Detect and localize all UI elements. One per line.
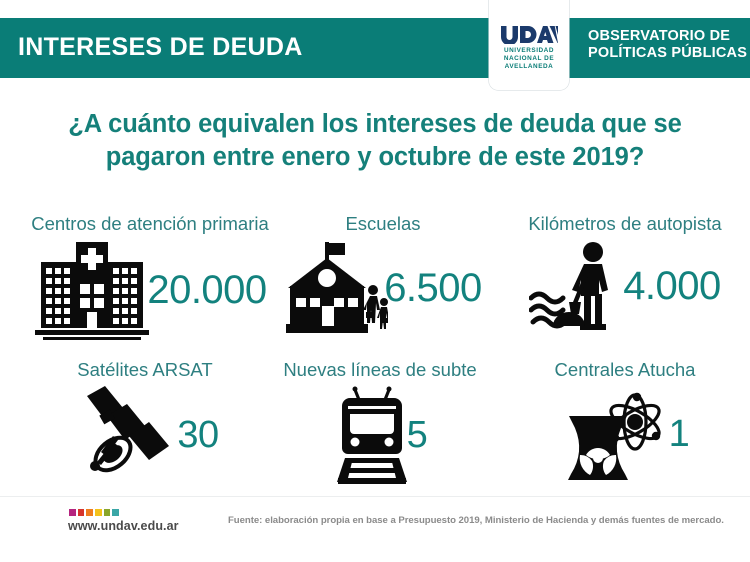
- satellite-icon: [71, 386, 181, 484]
- stat-body: 5: [255, 386, 505, 484]
- undav-logo-subtitle: UNIVERSIDAD NACIONAL DE AVELLANEDA: [504, 47, 554, 72]
- footer-website-url[interactable]: www.undav.edu.ar: [68, 519, 179, 533]
- school-icon: [284, 240, 388, 336]
- undav-logo-icon: [500, 25, 558, 44]
- observatory-line-1: OBSERVATORIO DE: [588, 28, 748, 45]
- stat-body: 20.000: [0, 240, 300, 340]
- stat-value: 4.000: [623, 266, 721, 306]
- headline: ¿A cuánto equivalen los intereses de deu…: [0, 108, 750, 174]
- swatch-3: [86, 509, 93, 516]
- footer-source-note: Fuente: elaboración propia en base a Pre…: [228, 515, 724, 526]
- footer-brand: www.undav.edu.ar: [68, 509, 179, 533]
- stat-body: 4.000: [500, 240, 750, 332]
- roadwork-icon: [529, 240, 627, 332]
- swatch-2: [78, 509, 85, 516]
- swatch-4: [95, 509, 102, 516]
- train-icon: [333, 386, 411, 484]
- stat-label: Kilómetros de autopista: [500, 212, 750, 236]
- stat-value: 6.500: [384, 268, 482, 308]
- stat-label: Nuevas líneas de subte: [255, 358, 505, 382]
- stat-body: 6.500: [258, 240, 508, 336]
- headline-line-2: pagaron entre enero y octubre de este 20…: [0, 141, 750, 174]
- headline-line-1: ¿A cuánto equivalen los intereses de deu…: [0, 108, 750, 141]
- stat-value: 20.000: [147, 270, 266, 310]
- stat-label: Centrales Atucha: [500, 358, 750, 382]
- stat-label: Escuelas: [258, 212, 508, 236]
- stat-body: 30: [10, 386, 280, 484]
- stat-value: 5: [407, 415, 428, 455]
- swatch-6: [112, 509, 119, 516]
- logo-sub-line-3: AVELLANEDA: [504, 63, 554, 71]
- observatory-line-2: POLÍTICAS PÚBLICAS: [588, 45, 748, 62]
- logo-sub-line-1: UNIVERSIDAD: [504, 47, 554, 55]
- swatch-1: [69, 509, 76, 516]
- swatch-5: [104, 509, 111, 516]
- color-swatches: [69, 509, 179, 516]
- undav-logo-card: UNIVERSIDAD NACIONAL DE AVELLANEDA: [489, 0, 569, 90]
- stat-label: Satélites ARSAT: [10, 358, 280, 382]
- observatory-title: OBSERVATORIO DE POLÍTICAS PÚBLICAS: [588, 28, 748, 62]
- page-title: INTERESES DE DEUDA: [18, 30, 458, 64]
- nuclear-plant-icon: [561, 386, 673, 482]
- stat-label: Centros de atención primaria: [0, 212, 300, 236]
- footer-divider: [0, 496, 750, 497]
- stat-value: 1: [669, 414, 690, 454]
- hospital-icon: [33, 240, 151, 340]
- stat-body: 1: [500, 386, 750, 482]
- logo-sub-line-2: NACIONAL DE: [504, 55, 554, 63]
- stat-value: 30: [177, 415, 218, 455]
